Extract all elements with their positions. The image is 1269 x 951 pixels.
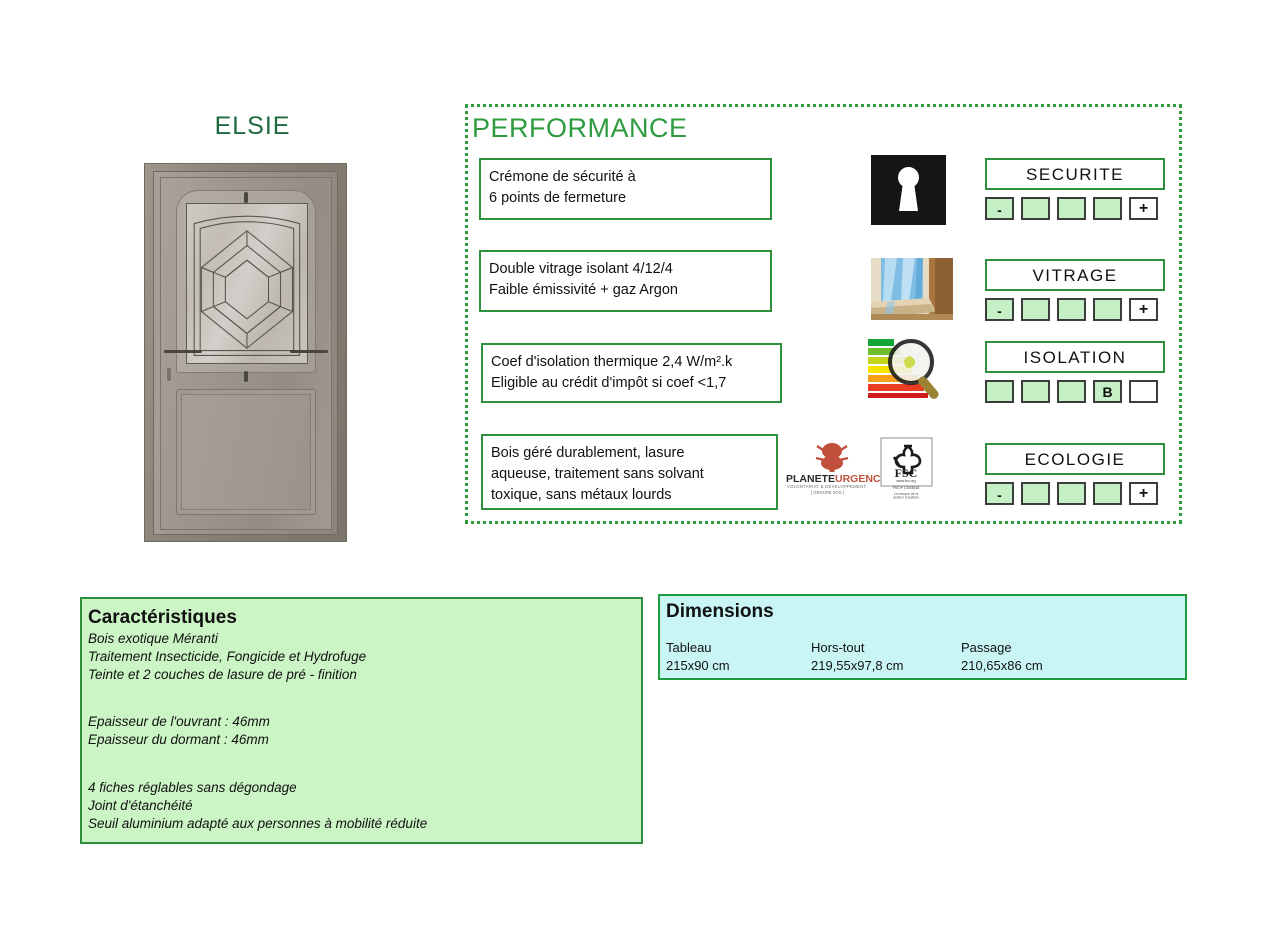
scale-cell[interactable] [1057,197,1086,220]
door-glass-surround [176,190,315,373]
rating-group-vitrage: VITRAGE - + [985,259,1165,321]
planete-urgence-logo: PLANETE URGENCE VOLONTARIAT & DEVELOPPEM… [783,440,881,495]
dimensions-panel: Dimensions Tableau 215x90 cm Hors-tout 2… [658,594,1187,680]
product-image-door [144,163,347,542]
energy-label-magnifier-icon [866,333,952,399]
feature-line: Double vitrage isolant 4/12/4 [489,259,770,280]
dimension-column-tableau: Tableau 215x90 cm [666,639,811,674]
characteristic-line: Teinte et 2 couches de lasure de pré - f… [88,666,641,684]
door-leaf [160,177,332,530]
feature-line: toxique, sans métaux lourds [491,485,776,506]
spacer [88,683,641,713]
scale-cell[interactable] [1093,298,1122,321]
door-frame-outer [144,163,347,542]
svg-text:gestion forestière: gestion forestière [893,496,919,500]
rating-scale-isolation: B [985,380,1165,403]
door-knob [167,368,171,381]
dimensions-title: Dimensions [666,601,1185,623]
feature-line: Faible émissivité + gaz Argon [489,280,770,301]
rating-group-securite: SECURITE - + [985,158,1165,220]
door-handle-top [244,192,247,203]
door-glass-pane [186,203,308,364]
dimensions-columns: Tableau 215x90 cm Hors-tout 219,55x97,8 … [666,639,1185,674]
characteristic-line: Epaisseur du dormant : 46mm [88,731,641,749]
dimension-value: 210,65x86 cm [961,657,1131,675]
rating-scale-ecologie: - + [985,482,1165,505]
door-handle-bottom [244,371,247,382]
scale-cell[interactable] [1057,482,1086,505]
rating-label-isolation: ISOLATION [985,341,1165,373]
feature-box-insulation: Coef d'isolation thermique 2,4 W/m².k El… [481,343,782,403]
scale-cell[interactable] [1021,482,1050,505]
dimension-value: 215x90 cm [666,657,811,675]
rating-label-ecologie: ECOLOGIE [985,443,1165,475]
scale-cell-grade[interactable]: B [1093,380,1122,403]
feature-line: Eligible au crédit d'impôt si coef <1,7 [491,373,780,394]
scale-cell[interactable] [1093,197,1122,220]
fsc-logo: FSC www.fsc.org FSC® C003618 La marque d… [879,437,934,499]
door-handle-left [164,350,201,353]
scale-cell-plus[interactable]: + [1129,197,1158,220]
characteristics-title: Caractéristiques [88,607,641,629]
dimension-value: 219,55x97,8 cm [811,657,961,675]
scale-cell-minus[interactable]: - [985,482,1014,505]
dimension-label: Tableau [666,639,811,657]
rating-label-securite: SECURITE [985,158,1165,190]
scale-cell[interactable] [1057,298,1086,321]
scale-cell[interactable] [1021,380,1050,403]
characteristic-line: Joint d'étanchéité [88,797,641,815]
feature-line: Coef d'isolation thermique 2,4 W/m².k [491,352,780,373]
scale-cell-minus[interactable]: - [985,197,1014,220]
window-glazing-icon [871,258,953,320]
door-frame-inner [153,171,338,535]
feature-box-ecology: Bois géré durablement, lasure aqueuse, t… [481,434,778,510]
characteristic-line: Bois exotique Méranti [88,630,641,648]
keyhole-icon [871,155,946,225]
feature-line: 6 points de fermeture [489,188,770,209]
scale-cell[interactable] [1093,482,1122,505]
feature-line: Bois géré durablement, lasure [491,443,776,464]
svg-text:[ GROUPE SOS ]: [ GROUPE SOS ] [811,490,844,495]
rating-label-vitrage: VITRAGE [985,259,1165,291]
door-handle-right [290,350,327,353]
leaded-glass-pattern-icon [187,204,307,363]
svg-text:www.fsc.org: www.fsc.org [896,479,915,483]
rating-group-ecologie: ECOLOGIE - + [985,443,1165,505]
characteristic-line: Traitement Insecticide, Fongicide et Hyd… [88,648,641,666]
rating-group-isolation: ISOLATION B [985,341,1165,403]
dimension-label: Hors-tout [811,639,961,657]
rating-scale-vitrage: - + [985,298,1165,321]
rating-scale-securite: - + [985,197,1165,220]
feature-line: aqueuse, traitement sans solvant [491,464,776,485]
spacer [88,749,641,779]
dimension-column-passage: Passage 210,65x86 cm [961,639,1131,674]
dimension-label: Passage [961,639,1131,657]
door-lower-panel [176,389,315,515]
feature-box-security: Crémone de sécurité à 6 points de fermet… [479,158,772,220]
svg-text:FSC® C003618: FSC® C003618 [893,486,920,490]
svg-text:VOLONTARIAT & DEVELOPPEMENT: VOLONTARIAT & DEVELOPPEMENT [787,484,866,489]
characteristics-panel: Caractéristiques Bois exotique Méranti T… [80,597,643,844]
characteristic-line: Seuil aluminium adapté aux personnes à m… [88,815,641,833]
feature-line: Crémone de sécurité à [489,167,770,188]
scale-cell-plus[interactable]: + [1129,298,1158,321]
scale-cell[interactable] [1021,197,1050,220]
scale-cell[interactable] [1129,380,1158,403]
performance-heading: PERFORMANCE [472,113,688,144]
dimension-column-hors-tout: Hors-tout 219,55x97,8 cm [811,639,961,674]
page-title: ELSIE [145,112,360,141]
scale-cell-plus[interactable]: + [1129,482,1158,505]
characteristic-line: 4 fiches réglables sans dégondage [88,779,641,797]
scale-cell-minus[interactable]: - [985,298,1014,321]
scale-cell[interactable] [1057,380,1086,403]
scale-cell[interactable] [985,380,1014,403]
svg-text:FSC: FSC [895,466,918,480]
characteristic-line: Epaisseur de l'ouvrant : 46mm [88,713,641,731]
feature-box-glazing: Double vitrage isolant 4/12/4 Faible émi… [479,250,772,312]
scale-cell[interactable] [1021,298,1050,321]
